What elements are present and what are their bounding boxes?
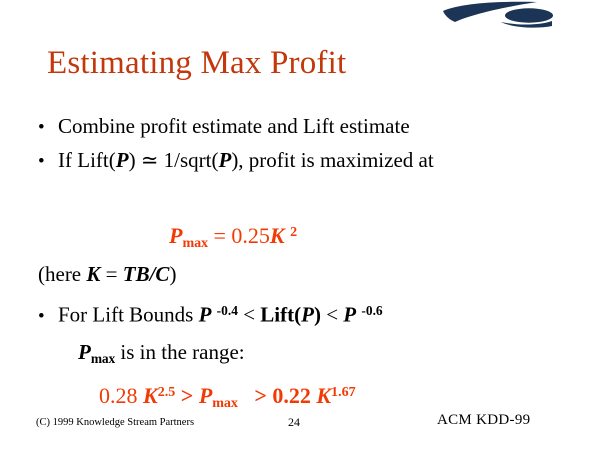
variable-p: P — [199, 303, 212, 327]
bullet-marker: • — [38, 152, 58, 171]
lift-function-label: Lift( — [260, 303, 301, 327]
here-prefix: (here — [38, 262, 86, 286]
variable-p: P — [301, 303, 314, 327]
formula-range: 0.28 K2.5 > Pmax > 0.22 K1.67 — [99, 379, 356, 416]
here-definition-line: (here K = TB/C) — [38, 262, 176, 286]
lift-suffix: ), profit is maximized at — [231, 148, 433, 172]
variable-k: K — [86, 262, 100, 286]
lift-middle: ) ≃ 1/sqrt( — [129, 148, 219, 172]
formula-pmax-coefficient: 0.25 — [231, 223, 270, 248]
range-label-text: is in the range: — [115, 340, 244, 364]
range-space-2 — [238, 383, 255, 408]
expression-tb-over-c: TB/C — [123, 262, 170, 286]
bullet-text-lift-bounds: For Lift Bounds P -0.4 < Lift(P) < P -0.… — [58, 299, 383, 327]
bullet-marker: • — [38, 307, 58, 326]
variable-p: P — [218, 148, 231, 172]
bounds-prefix: For Lift Bounds — [58, 303, 199, 327]
exponent-lower-bound: -0.4 — [217, 303, 238, 318]
bullet-marker: • — [38, 118, 58, 137]
bullet-item-lift-bounds: • For Lift Bounds P -0.4 < Lift(P) < P -… — [38, 299, 383, 327]
range-gt-2: > — [254, 383, 267, 408]
slide-canvas: Estimating Max Profit • Combine profit e… — [0, 0, 600, 450]
here-suffix: ) — [169, 262, 176, 286]
range-upper-coefficient: 0.28 — [99, 383, 138, 408]
range-upper-base: K — [143, 383, 158, 408]
here-equals: = — [100, 262, 122, 286]
range-subscript-max: max — [212, 395, 238, 411]
bullet-text-combine: Combine profit estimate and Lift estimat… — [58, 114, 410, 138]
formula-pmax: Pmax = 0.25K 2 — [169, 219, 297, 256]
bullet-item-combine: • Combine profit estimate and Lift estim… — [38, 114, 410, 138]
lift-close-paren: ) — [314, 303, 321, 327]
exponent-upper-bound: -0.6 — [361, 303, 382, 318]
variable-p: P — [343, 303, 356, 327]
swoosh-icon — [441, 1, 553, 29]
formula-pmax-variable: P — [169, 223, 182, 248]
range-variable-p: P — [199, 383, 212, 408]
range-lower-base: K — [316, 383, 331, 408]
range-lower-exponent: 1.67 — [331, 384, 356, 400]
company-swoosh-logo — [441, 1, 553, 29]
footer-page-number: 24 — [288, 415, 300, 430]
footer-conference: ACM KDD-99 — [437, 412, 530, 429]
page-title: Estimating Max Profit — [47, 44, 346, 82]
formula-pmax-equals-sign: = — [213, 223, 225, 248]
range-subscript-max: max — [91, 351, 115, 366]
formula-pmax-subscript: max — [182, 235, 208, 251]
formula-pmax-exponent: 2 — [290, 224, 297, 240]
range-gt-1: > — [181, 383, 194, 408]
formula-pmax-base: K — [270, 223, 285, 248]
lift-prefix: If Lift( — [58, 148, 116, 172]
footer-copyright: (C) 1999 Knowledge Stream Partners — [36, 417, 194, 428]
bullet-item-lift-approx: • If Lift(P) ≃ 1/sqrt(P), profit is maxi… — [38, 148, 434, 172]
range-upper-exponent: 2.5 — [158, 384, 176, 400]
range-lower-coefficient: 0.22 — [272, 383, 311, 408]
bullet-text-lift-approx: If Lift(P) ≃ 1/sqrt(P), profit is maximi… — [58, 148, 434, 172]
variable-p: P — [116, 148, 129, 172]
range-label-line: Pmax is in the range: — [78, 340, 245, 371]
range-variable-p: P — [78, 340, 91, 364]
less-than-1: < — [238, 303, 260, 327]
less-than-2: < — [321, 303, 343, 327]
